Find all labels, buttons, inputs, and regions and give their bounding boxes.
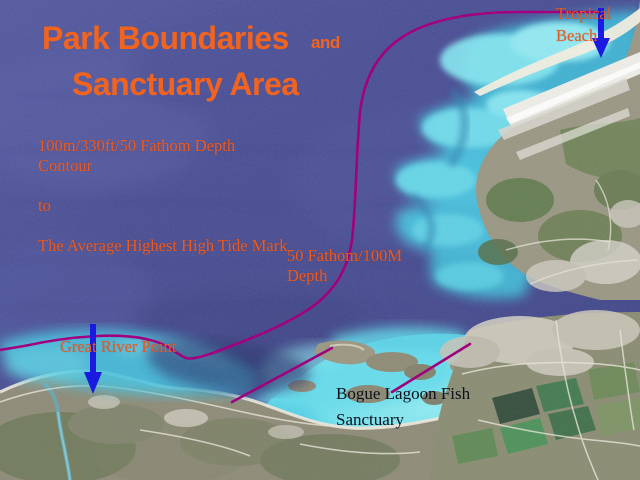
page-title-conjunction: and (311, 33, 340, 53)
park-boundaries-map: Park Boundaries and Sanctuary Area 100m/… (0, 0, 640, 480)
depth-contour-description: 100m/330ft/50 Fathom Depth Contour to Th… (38, 136, 288, 256)
fifty-fathom-depth-label: 50 Fathom/100M Depth (287, 246, 437, 286)
great-river-point-label: Great River Point (60, 336, 180, 358)
page-title-line-2: Sanctuary Area (72, 66, 299, 103)
tropical-beach-label: Tropical Beach (556, 3, 640, 47)
page-title-line-1: Park Boundaries (42, 20, 289, 57)
bogue-lagoon-fish-sanctuary-label: Bogue Lagoon Fish Sanctuary (336, 381, 496, 433)
